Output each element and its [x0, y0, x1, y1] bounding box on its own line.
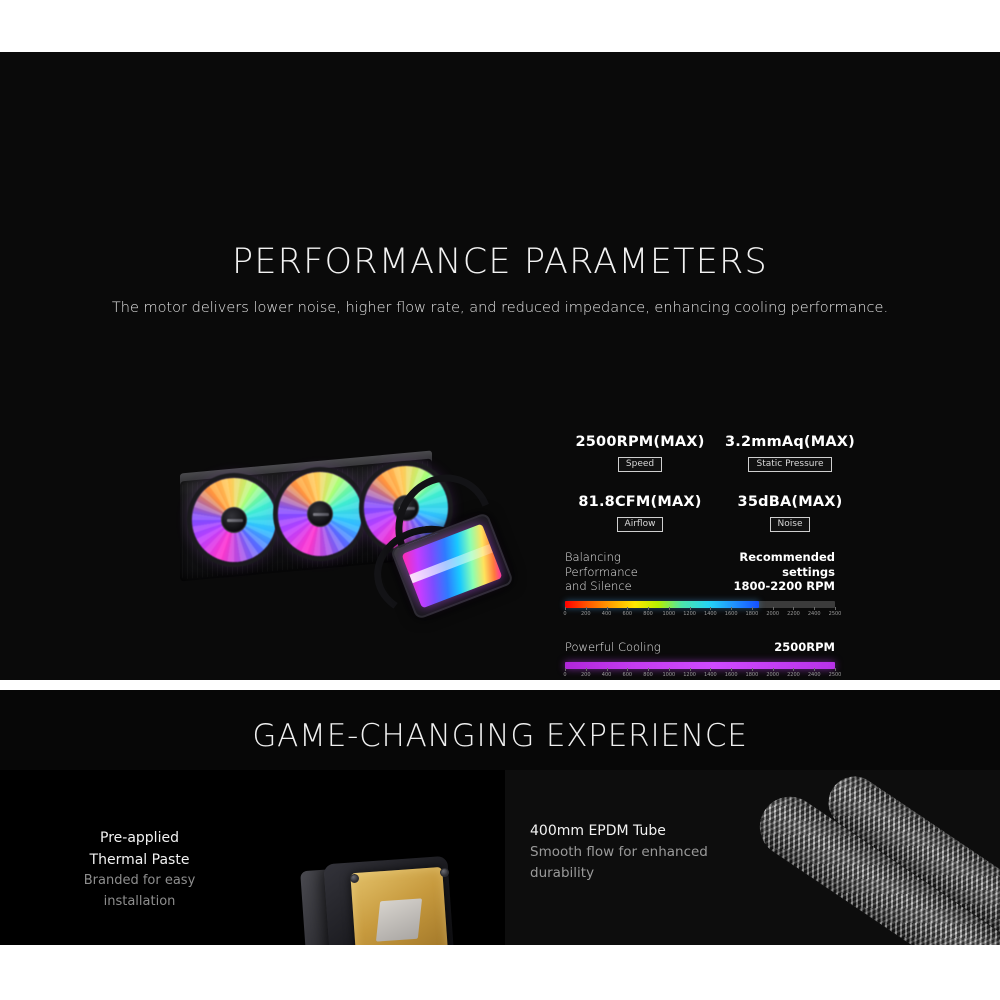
panel-epdm-tube: 400mm EPDM Tube Smooth flow for enhanced… [505, 770, 1000, 945]
tick-mark [565, 668, 566, 671]
meter-left-line2: and Silence [565, 579, 690, 594]
spec-value: 3.2mmAq(MAX) [715, 434, 865, 450]
meter-right-label: 2500RPM [774, 640, 835, 655]
screw-icon [350, 874, 359, 883]
aio-cooler-image [160, 450, 520, 635]
tick-mark [648, 607, 649, 610]
tick-mark [669, 668, 670, 671]
cold-plate-image [300, 852, 480, 945]
tick-label: 1000 [662, 672, 675, 678]
tick-mark [648, 668, 649, 671]
meter-header: Powerful Cooling 2500RPM [565, 640, 835, 655]
thermal-paste-line4: installation [12, 892, 267, 912]
tick-label: 2200 [787, 672, 800, 678]
meter-balancing-performance: Balancing Performance and Silence Recomm… [565, 550, 835, 622]
tick-mark [669, 607, 670, 610]
spec-value: 35dBA(MAX) [715, 494, 865, 510]
tick-mark [607, 607, 608, 610]
tick-label: 600 [623, 611, 633, 617]
spec-row-2: 81.8CFM(MAX) Airflow 35dBA(MAX) Noise [565, 494, 865, 532]
meter-right-line1: Recommended settings [690, 550, 835, 579]
tick-mark [752, 607, 753, 610]
tick-label: 0 [563, 672, 566, 678]
tick-mark [835, 607, 836, 610]
thermal-paste-line3: Branded for easy [12, 871, 267, 891]
meter-left-line1: Balancing Performance [565, 550, 690, 579]
tick-mark [586, 607, 587, 610]
tick-label: 2000 [766, 672, 779, 678]
screw-icon [440, 868, 449, 877]
tick-label: 1400 [704, 611, 717, 617]
tick-label: 1600 [725, 672, 738, 678]
tick-label: 0 [563, 611, 566, 617]
tick-mark [607, 668, 608, 671]
tick-mark [793, 607, 794, 610]
meter-powerful-cooling: Powerful Cooling 2500RPM 020040060080010… [565, 640, 835, 680]
tick-mark [627, 668, 628, 671]
tick-label: 600 [623, 672, 633, 678]
thermal-paste-text: Pre-applied Thermal Paste Branded for ea… [12, 828, 267, 912]
fan-hub [221, 507, 247, 533]
meter-fill-purple [565, 662, 835, 669]
tick-label: 2500 [829, 672, 842, 678]
tick-label: 1200 [683, 611, 696, 617]
meter-left-line1: Powerful Cooling [565, 640, 661, 655]
tick-mark [710, 607, 711, 610]
epdm-tube-line3: durability [530, 863, 760, 884]
feature-panels: Pre-applied Thermal Paste Branded for ea… [0, 770, 1000, 945]
argb-fan-2 [278, 472, 362, 556]
spec-label-chip: Static Pressure [748, 457, 831, 472]
product-marketing-page: PERFORMANCE PARAMETERS The motor deliver… [0, 0, 1000, 1000]
tick-label: 2400 [808, 672, 821, 678]
page-subtitle: The motor delivers lower noise, higher f… [0, 300, 1000, 316]
epdm-tube-line2: Smooth flow for enhanced [530, 842, 760, 863]
tick-label: 2500 [829, 611, 842, 617]
tick-mark [710, 668, 711, 671]
tick-mark [565, 607, 566, 610]
epdm-tube-text: 400mm EPDM Tube Smooth flow for enhanced… [530, 820, 760, 885]
tick-mark [586, 668, 587, 671]
meter-track [565, 662, 835, 669]
tick-label: 200 [581, 611, 591, 617]
meter-right-line1: 2500RPM [774, 640, 835, 655]
thermal-paste-line1: Pre-applied [12, 828, 267, 850]
fan-hub [307, 501, 333, 527]
tick-mark [814, 668, 815, 671]
meter-scale-2: 0200400600800100012001400160018002000220… [565, 672, 835, 680]
tick-label: 1800 [746, 611, 759, 617]
tick-label: 400 [602, 611, 612, 617]
spec-speed: 2500RPM(MAX) Speed [565, 434, 715, 472]
tick-mark [690, 607, 691, 610]
tick-mark [731, 668, 732, 671]
tick-mark [690, 668, 691, 671]
performance-header: PERFORMANCE PARAMETERS The motor deliver… [0, 242, 1000, 316]
tick-label: 1400 [704, 672, 717, 678]
meter-left-label: Powerful Cooling [565, 640, 661, 655]
meter-scale-1: 0200400600800100012001400160018002000220… [565, 611, 835, 622]
meter-track [565, 601, 835, 608]
tick-label: 1000 [662, 611, 675, 617]
spec-value: 2500RPM(MAX) [565, 434, 715, 450]
meter-left-label: Balancing Performance and Silence [565, 550, 690, 594]
tick-mark [752, 668, 753, 671]
spec-static-pressure: 3.2mmAq(MAX) Static Pressure [715, 434, 865, 472]
spec-row-1: 2500RPM(MAX) Speed 3.2mmAq(MAX) Static P… [565, 434, 865, 472]
tick-label: 2200 [787, 611, 800, 617]
spec-label-chip: Speed [618, 457, 662, 472]
thermal-paste-patch [376, 898, 422, 941]
tick-label: 1800 [746, 672, 759, 678]
tick-mark [627, 607, 628, 610]
braided-tube-image [755, 770, 1000, 945]
epdm-tube-line1: 400mm EPDM Tube [530, 820, 760, 842]
spec-label-chip: Noise [770, 517, 811, 532]
section-title: GAME-CHANGING EXPERIENCE [0, 718, 1000, 754]
tick-label: 1200 [683, 672, 696, 678]
tick-label: 200 [581, 672, 591, 678]
argb-fan-1 [192, 478, 276, 562]
spec-grid: 2500RPM(MAX) Speed 3.2mmAq(MAX) Static P… [565, 434, 865, 532]
page-title: PERFORMANCE PARAMETERS [0, 242, 1000, 282]
game-changing-experience-section: GAME-CHANGING EXPERIENCE Pre-applied The… [0, 690, 1000, 945]
tick-label: 2400 [808, 611, 821, 617]
tick-mark [773, 668, 774, 671]
performance-parameters-section: PERFORMANCE PARAMETERS The motor deliver… [0, 52, 1000, 680]
tick-label: 400 [602, 672, 612, 678]
tick-mark [793, 668, 794, 671]
tick-label: 2000 [766, 611, 779, 617]
spec-noise: 35dBA(MAX) Noise [715, 494, 865, 532]
meter-list: Balancing Performance and Silence Recomm… [565, 550, 835, 680]
tick-mark [835, 668, 836, 671]
thermal-paste-line2: Thermal Paste [12, 850, 267, 872]
spec-value: 81.8CFM(MAX) [565, 494, 715, 510]
tick-mark [814, 607, 815, 610]
spec-airflow: 81.8CFM(MAX) Airflow [565, 494, 715, 532]
tick-label: 800 [643, 611, 653, 617]
tick-mark [731, 607, 732, 610]
tick-mark [773, 607, 774, 610]
meter-right-label: Recommended settings 1800-2200 RPM [690, 550, 835, 594]
meter-right-line2: 1800-2200 RPM [690, 579, 835, 594]
meter-header: Balancing Performance and Silence Recomm… [565, 550, 835, 594]
tick-label: 1600 [725, 611, 738, 617]
panel-thermal-paste: Pre-applied Thermal Paste Branded for ea… [0, 770, 505, 945]
spec-label-chip: Airflow [617, 517, 664, 532]
tick-label: 800 [643, 672, 653, 678]
